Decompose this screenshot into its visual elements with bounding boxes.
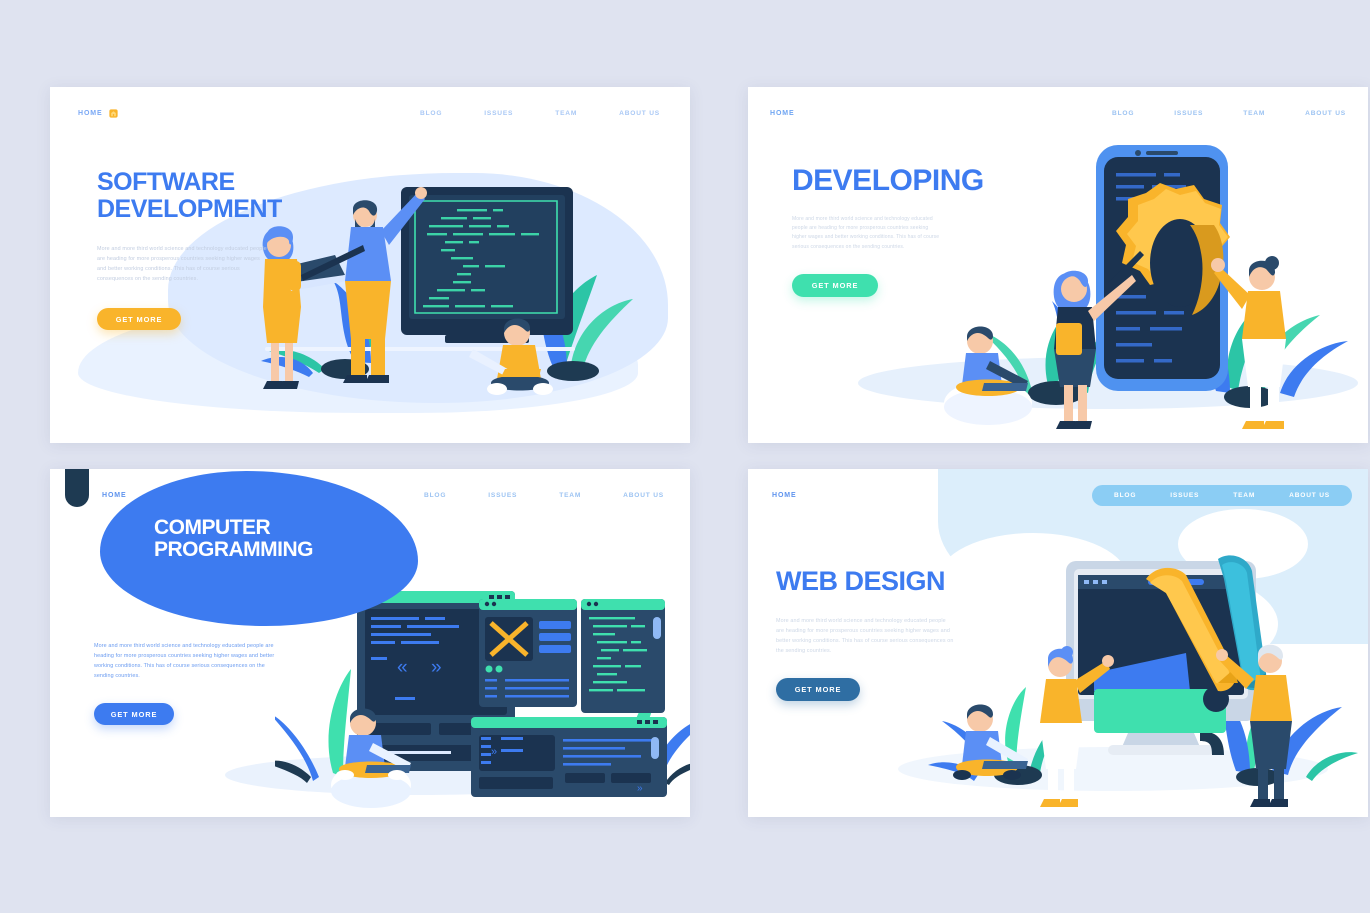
page-title: WEB DESIGN (776, 567, 954, 596)
nav-link-team[interactable]: TEAM (559, 492, 581, 499)
brand-home[interactable]: HOME (78, 108, 119, 119)
hero-content: SOFTWARE DEVELOPMENT More and more third… (97, 169, 282, 330)
nav-link-issues[interactable]: ISSUES (488, 492, 517, 499)
brand-home[interactable]: HOME (102, 492, 127, 499)
hero-paragraph: More and more third world science and te… (97, 244, 269, 284)
nav-link-about-us[interactable]: ABOUT US (623, 492, 664, 499)
nav-links-pill: BLOG ISSUES TEAM ABOUT US (1092, 485, 1352, 506)
nav-links: BLOG ISSUES TEAM ABOUT US (420, 110, 664, 117)
nav-link-about-us[interactable]: ABOUT US (1305, 110, 1346, 117)
hero-content: More and more third world science and te… (94, 641, 276, 725)
hero-content: WEB DESIGN More and more third world sci… (776, 567, 954, 701)
hero-paragraph: More and more third world science and te… (792, 215, 942, 252)
page-title: DEVELOPING (792, 165, 984, 197)
page-title: COMPUTER PROGRAMMING (154, 517, 313, 562)
wide-code-window: » » (471, 717, 667, 797)
nav-link-issues[interactable]: ISSUES (484, 110, 513, 117)
illustration-smartphone-with-gear (928, 135, 1368, 435)
illustration-desktop-monitor-with-pencils (918, 531, 1368, 811)
navbar: HOME BLOG ISSUES TEAM ABOUT US (50, 87, 690, 139)
get-more-button[interactable]: GET MORE (94, 703, 174, 725)
svg-text:»: » (431, 657, 442, 678)
nav-link-team[interactable]: TEAM (1233, 492, 1255, 499)
title-line-2: DEVELOPMENT (97, 195, 282, 223)
svg-text:»: » (491, 746, 497, 758)
house-icon (108, 108, 119, 119)
svg-text:»: » (637, 783, 643, 794)
hero-paragraph: More and more third world science and te… (776, 616, 954, 656)
get-more-button[interactable]: GET MORE (792, 274, 878, 297)
corner-tab-decoration (65, 469, 89, 507)
landing-pages-grid: HOME BLOG ISSUES TEAM ABOUT US SOFTWARE … (0, 0, 1370, 913)
navbar: HOME BLOG ISSUES TEAM ABOUT US (748, 469, 1368, 521)
landing-card-developing: HOME BLOG ISSUES TEAM ABOUT US DEVELOPIN… (748, 87, 1368, 443)
brand-label: HOME (770, 110, 795, 117)
nav-link-blog[interactable]: BLOG (424, 492, 446, 499)
brand-label: HOME (772, 492, 797, 499)
title-line-2: PROGRAMMING (154, 538, 313, 561)
nav-link-blog[interactable]: BLOG (420, 110, 442, 117)
nav-link-issues[interactable]: ISSUES (1174, 110, 1203, 117)
nav-link-issues[interactable]: ISSUES (1170, 492, 1199, 499)
landing-card-software-development: HOME BLOG ISSUES TEAM ABOUT US SOFTWARE … (50, 87, 690, 443)
nav-links: BLOG ISSUES TEAM ABOUT US (1112, 110, 1346, 117)
get-more-button[interactable]: GET MORE (97, 308, 181, 330)
x-media-window (479, 599, 577, 707)
nav-link-blog[interactable]: BLOG (1112, 110, 1134, 117)
title-line-1: SOFTWARE (97, 168, 235, 196)
navbar: HOME BLOG ISSUES TEAM ABOUT US (748, 87, 1368, 139)
svg-text:«: « (397, 657, 408, 678)
nav-link-about-us[interactable]: ABOUT US (619, 110, 660, 117)
hero-content: DEVELOPING More and more third world sci… (792, 165, 984, 297)
hero-paragraph: More and more third world science and te… (94, 641, 276, 681)
get-more-button[interactable]: GET MORE (776, 678, 860, 701)
code-monitor (401, 187, 573, 343)
nav-link-team[interactable]: TEAM (555, 110, 577, 117)
landing-card-computer-programming: HOME BLOG ISSUES TEAM ABOUT US COMPUTER … (50, 469, 690, 817)
brand-home[interactable]: HOME (772, 492, 797, 499)
nav-link-team[interactable]: TEAM (1243, 110, 1265, 117)
page-title: SOFTWARE DEVELOPMENT (97, 169, 282, 222)
navbar: HOME BLOG ISSUES TEAM ABOUT US (50, 469, 690, 521)
brand-label: HOME (78, 110, 103, 117)
brand-label: HOME (102, 492, 127, 499)
brand-home[interactable]: HOME (770, 110, 795, 117)
nav-link-about-us[interactable]: ABOUT US (1289, 492, 1330, 499)
nav-links: BLOG ISSUES TEAM ABOUT US (424, 492, 664, 499)
landing-card-web-design: HOME BLOG ISSUES TEAM ABOUT US WEB DESIG… (748, 469, 1368, 817)
nav-link-blog[interactable]: BLOG (1114, 492, 1136, 499)
code-snippet-window (581, 599, 665, 713)
